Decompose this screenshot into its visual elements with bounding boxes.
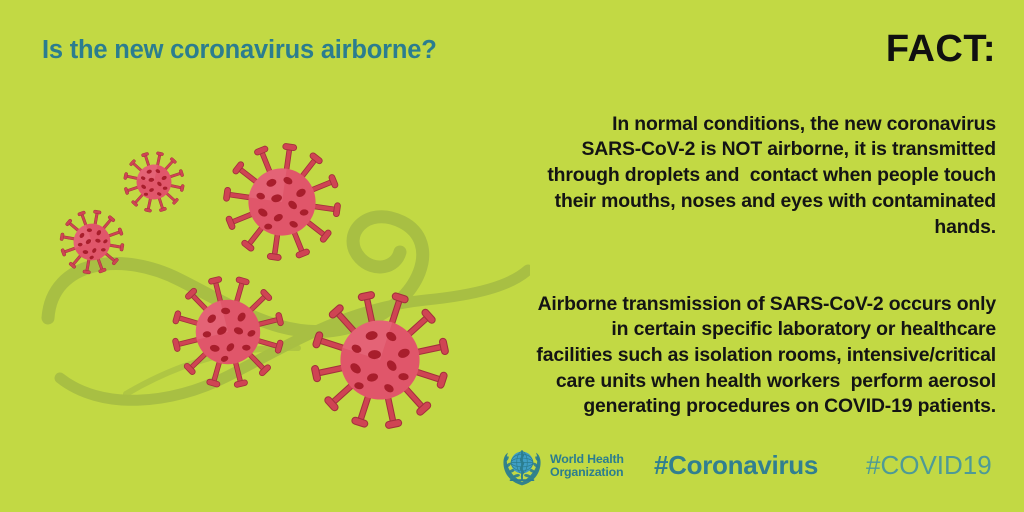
who-wordmark-line2: Organization	[550, 466, 624, 479]
virus-particle	[216, 136, 348, 268]
fact-heading: FACT:	[886, 30, 996, 68]
footer: World Health Organization #Coronavirus #…	[0, 444, 1024, 494]
who-wordmark: World Health Organization	[550, 453, 624, 479]
coronavirus-illustration	[30, 110, 530, 440]
who-emblem-icon	[500, 444, 544, 488]
who-logo: World Health Organization	[500, 444, 624, 488]
virus-particle	[118, 146, 190, 218]
fact-paragraph-1: In normal conditions, the new coronaviru…	[547, 113, 1001, 238]
hashtag-coronavirus[interactable]: #Coronavirus	[654, 450, 818, 481]
wind-swirl-group	[48, 217, 528, 401]
hashtag-covid19[interactable]: #COVID19	[866, 450, 992, 481]
page-title: Is the new coronavirus airborne?	[42, 36, 437, 65]
infographic-poster: Is the new coronavirus airborne? FACT: I…	[0, 0, 1024, 512]
fact-body-text: In normal conditions, the new coronaviru…	[534, 86, 996, 471]
fact-paragraph-2: Airborne transmission of SARS-CoV-2 occu…	[534, 292, 996, 421]
